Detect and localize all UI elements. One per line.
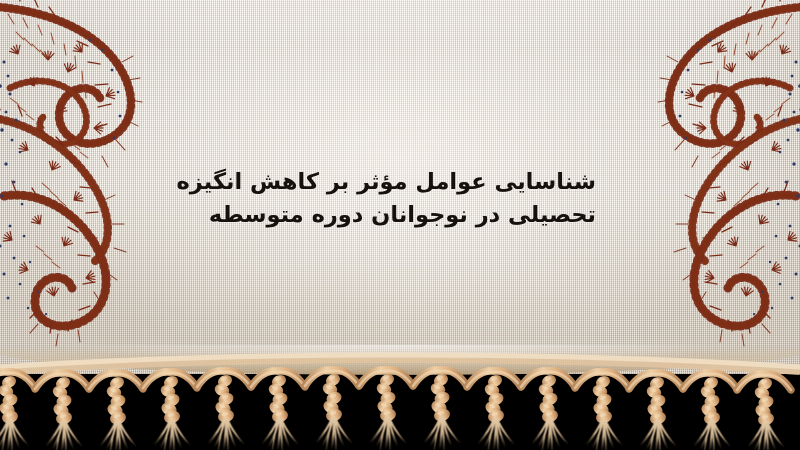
title-line-2: تحصیلی در نوجوانان دوره متوسطه <box>196 199 596 232</box>
tassel-row <box>0 370 791 450</box>
tassel-fringe <box>0 352 800 450</box>
slide-title: شناسایی عوامل مؤثر بر کاهش انگیزه تحصیلی… <box>196 166 596 232</box>
title-line-1: شناسایی عوامل مؤثر بر کاهش انگیزه <box>196 166 596 199</box>
slide-canvas: شناسایی عوامل مؤثر بر کاهش انگیزه تحصیلی… <box>0 0 800 450</box>
